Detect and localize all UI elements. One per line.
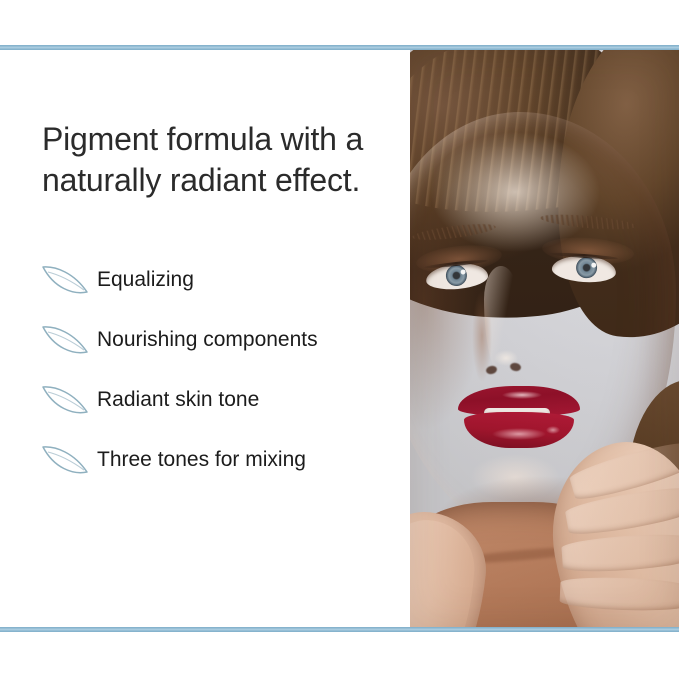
list-item-label: Three tones for mixing [97,447,306,473]
bottom-divider [0,627,679,632]
lips [458,386,580,448]
text-panel: Pigment formula with a naturally radiant… [0,50,410,627]
list-item-label: Radiant skin tone [97,387,259,413]
leaf-icon [40,441,90,479]
list-item-label: Nourishing components [97,327,318,353]
headline-line-1: Pigment formula with a [42,119,390,160]
leaf-icon [40,261,90,299]
leaf-icon [40,321,90,359]
model-beauty-photo [410,50,679,627]
list-item: Radiant skin tone [40,370,400,430]
iris-left [445,264,468,287]
lip-gloss-upper [502,391,542,399]
promo-card: Pigment formula with a naturally radiant… [0,0,679,679]
list-item: Equalizing [40,250,400,310]
photo-composite [410,50,679,627]
leaf-icon [40,381,90,419]
feature-list: Equalizing Nourishing components [40,250,400,490]
lip-gloss-lower [492,428,546,440]
iris-right [575,256,597,278]
headline-line-2: naturally radiant effect. [42,160,390,201]
page-title: Pigment formula with a naturally radiant… [42,119,390,201]
list-item: Nourishing components [40,310,400,370]
list-item: Three tones for mixing [40,430,400,490]
lip-gloss-accent [546,426,560,434]
list-item-label: Equalizing [97,267,194,293]
